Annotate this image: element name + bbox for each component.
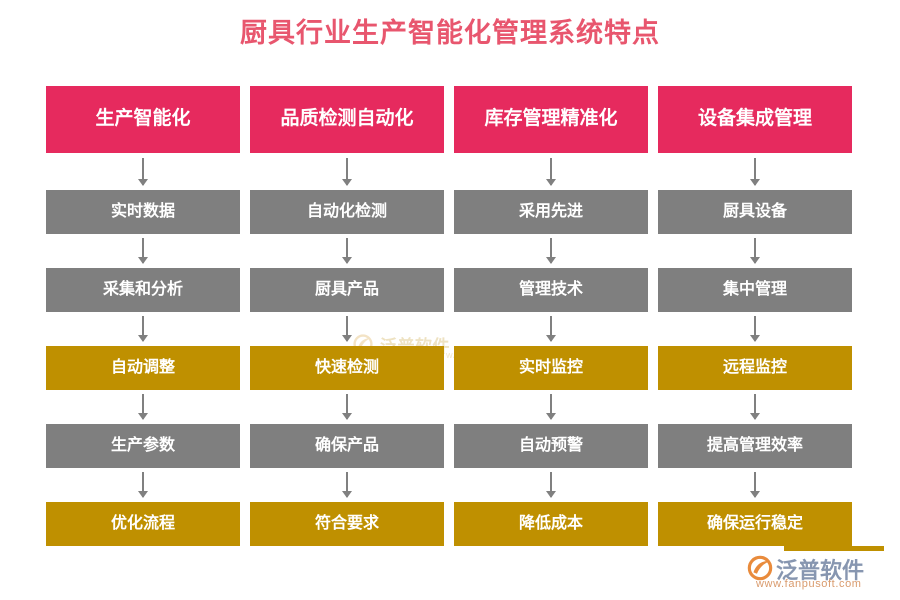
column-header-2[interactable]: 库存管理精准化 bbox=[454, 86, 648, 153]
flow-node-2-3[interactable]: 实时监控 bbox=[454, 346, 648, 390]
arrow-connector bbox=[346, 316, 348, 341]
arrow-connector bbox=[754, 472, 756, 497]
flow-node-1-1[interactable]: 自动化检测 bbox=[250, 190, 444, 234]
flow-grid: 生产智能化 实时数据 采集和分析 自动调整 生产参数 优化流程 品质检测自动化 … bbox=[46, 86, 854, 556]
arrow-connector bbox=[754, 394, 756, 419]
flow-column-3: 设备集成管理 厨具设备 集中管理 远程监控 提高管理效率 确保运行稳定 bbox=[658, 86, 852, 556]
arrow-connector bbox=[142, 394, 144, 419]
arrow-connector bbox=[142, 472, 144, 497]
flow-node-2-5[interactable]: 降低成本 bbox=[454, 502, 648, 546]
arrow-connector bbox=[142, 316, 144, 341]
flow-node-2-2[interactable]: 管理技术 bbox=[454, 268, 648, 312]
logo-url: www.fanpusoft.com bbox=[756, 578, 862, 590]
flow-node-0-1[interactable]: 实时数据 bbox=[46, 190, 240, 234]
arrow-connector bbox=[142, 158, 144, 185]
arrow-connector bbox=[346, 394, 348, 419]
flow-node-0-3[interactable]: 自动调整 bbox=[46, 346, 240, 390]
flow-node-1-2[interactable]: 厨具产品 bbox=[250, 268, 444, 312]
flow-column-1: 品质检测自动化 自动化检测 厨具产品 快速检测 确保产品 符合要求 bbox=[250, 86, 444, 556]
flow-node-1-5[interactable]: 符合要求 bbox=[250, 502, 444, 546]
arrow-connector bbox=[550, 158, 552, 185]
flow-node-0-5[interactable]: 优化流程 bbox=[46, 502, 240, 546]
flow-node-3-5[interactable]: 确保运行稳定 bbox=[658, 502, 852, 546]
column-header-0[interactable]: 生产智能化 bbox=[46, 86, 240, 153]
arrow-connector bbox=[346, 472, 348, 497]
brand-logo[interactable]: 泛普软件 www.fanpusoft.com bbox=[744, 546, 886, 592]
flow-node-3-1[interactable]: 厨具设备 bbox=[658, 190, 852, 234]
logo-accent-bar bbox=[784, 546, 884, 551]
arrow-connector bbox=[550, 394, 552, 419]
arrow-connector bbox=[754, 238, 756, 263]
flow-node-2-1[interactable]: 采用先进 bbox=[454, 190, 648, 234]
page-title: 厨具行业生产智能化管理系统特点 bbox=[0, 16, 900, 50]
arrow-connector bbox=[142, 238, 144, 263]
flowchart-page: 厨具行业生产智能化管理系统特点 泛普软件 FANPU SOFTWARE 生产智能… bbox=[0, 0, 900, 600]
arrow-connector bbox=[550, 472, 552, 497]
arrow-connector bbox=[550, 316, 552, 341]
arrow-connector bbox=[754, 158, 756, 185]
arrow-connector bbox=[346, 158, 348, 185]
flow-node-0-2[interactable]: 采集和分析 bbox=[46, 268, 240, 312]
arrow-connector bbox=[754, 316, 756, 341]
column-header-1[interactable]: 品质检测自动化 bbox=[250, 86, 444, 153]
flow-node-3-4[interactable]: 提高管理效率 bbox=[658, 424, 852, 468]
flow-node-3-2[interactable]: 集中管理 bbox=[658, 268, 852, 312]
arrow-connector bbox=[346, 238, 348, 263]
flow-node-2-4[interactable]: 自动预警 bbox=[454, 424, 648, 468]
flow-node-0-4[interactable]: 生产参数 bbox=[46, 424, 240, 468]
flow-column-2: 库存管理精准化 采用先进 管理技术 实时监控 自动预警 降低成本 bbox=[454, 86, 648, 556]
arrow-connector bbox=[550, 238, 552, 263]
flow-node-3-3[interactable]: 远程监控 bbox=[658, 346, 852, 390]
column-header-3[interactable]: 设备集成管理 bbox=[658, 86, 852, 153]
flow-node-1-3[interactable]: 快速检测 bbox=[250, 346, 444, 390]
flow-column-0: 生产智能化 实时数据 采集和分析 自动调整 生产参数 优化流程 bbox=[46, 86, 240, 556]
flow-node-1-4[interactable]: 确保产品 bbox=[250, 424, 444, 468]
